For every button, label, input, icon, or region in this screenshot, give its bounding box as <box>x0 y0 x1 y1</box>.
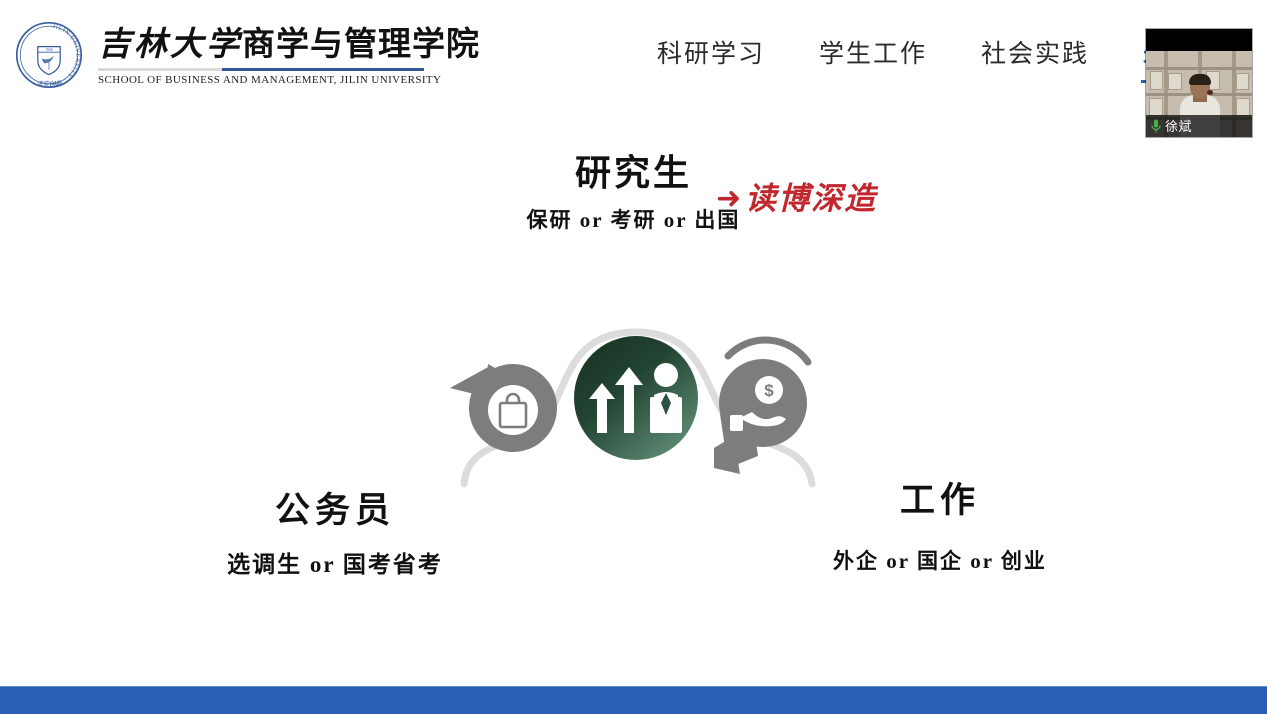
brand-university-name: 吉林大学 <box>98 27 242 63</box>
book-block <box>1236 98 1250 116</box>
nav-item-student-work[interactable]: 学生工作 <box>792 38 954 70</box>
svg-text:1946: 1946 <box>45 48 52 52</box>
civil-service-path-group: 公务员 选调生 or 国考省考 <box>185 488 485 580</box>
presenter-video-tile[interactable]: 徐斌 <box>1146 29 1252 137</box>
brand-divider <box>98 68 424 71</box>
phd-annotation-text: 读博深造 <box>745 180 877 218</box>
work-subtitle: 外企 or 国企 or 创业 <box>790 546 1090 576</box>
book-block <box>1149 98 1163 116</box>
civil-service-title: 公务员 <box>185 488 485 534</box>
presenter-name: 徐斌 <box>1165 119 1192 134</box>
work-path-group: 工作 外企 or 国企 or 创业 <box>790 478 1090 576</box>
brand-school-name: 商学与管理学院 <box>242 27 480 63</box>
university-seal-icon: JILIN UNIVERSITY · CHINA 1946 求实创新 <box>14 20 84 90</box>
nav-item-research[interactable]: 科研学习 <box>630 38 792 70</box>
brand-text-block: 吉林大学商学与管理学院 SCHOOL OF BUSINESS AND MANAG… <box>98 23 480 87</box>
civil-service-subtitle: 选调生 or 国考省考 <box>185 550 485 580</box>
graduate-path-group: 研究生 保研 or 考研 or 出国 <box>0 150 1267 234</box>
career-path-graphic: $ <box>428 298 848 498</box>
presenter-mouth <box>1207 90 1213 95</box>
brand-lockup: JILIN UNIVERSITY · CHINA 1946 求实创新 吉林大学商… <box>14 20 480 90</box>
right-arrow-icon: ➜ <box>716 184 741 214</box>
slide-canvas: JILIN UNIVERSITY · CHINA 1946 求实创新 吉林大学商… <box>0 0 1267 686</box>
book-block <box>1150 71 1163 90</box>
brand-title-cn: 吉林大学商学与管理学院 <box>98 25 480 65</box>
slide-nav: 科研学习 学生工作 社会实践 未来 <box>630 38 1224 70</box>
slide-header: JILIN UNIVERSITY · CHINA 1946 求实创新 吉林大学商… <box>0 0 1267 116</box>
brand-title-en: SCHOOL OF BUSINESS AND MANAGEMENT, JILIN… <box>98 73 480 87</box>
bottom-app-bar[interactable] <box>0 686 1267 714</box>
book-block <box>1236 73 1249 90</box>
presenter-hair <box>1189 74 1211 85</box>
svg-text:求实创新: 求实创新 <box>36 80 63 88</box>
phd-annotation: ➜ 读博深造 <box>716 180 877 218</box>
presenter-name-bar: 徐斌 <box>1146 115 1252 137</box>
nav-item-social-practice[interactable]: 社会实践 <box>954 38 1116 70</box>
graduation-cap-bag-icon <box>450 364 557 452</box>
video-letterbox <box>1146 29 1252 51</box>
work-title: 工作 <box>790 478 1090 524</box>
microphone-icon <box>1150 119 1162 134</box>
graduate-title: 研究生 <box>0 150 1267 196</box>
graduate-subtitle: 保研 or 考研 or 出国 <box>0 206 1267 234</box>
businessperson-figure-icon <box>650 363 682 433</box>
svg-text:$: $ <box>764 381 774 400</box>
